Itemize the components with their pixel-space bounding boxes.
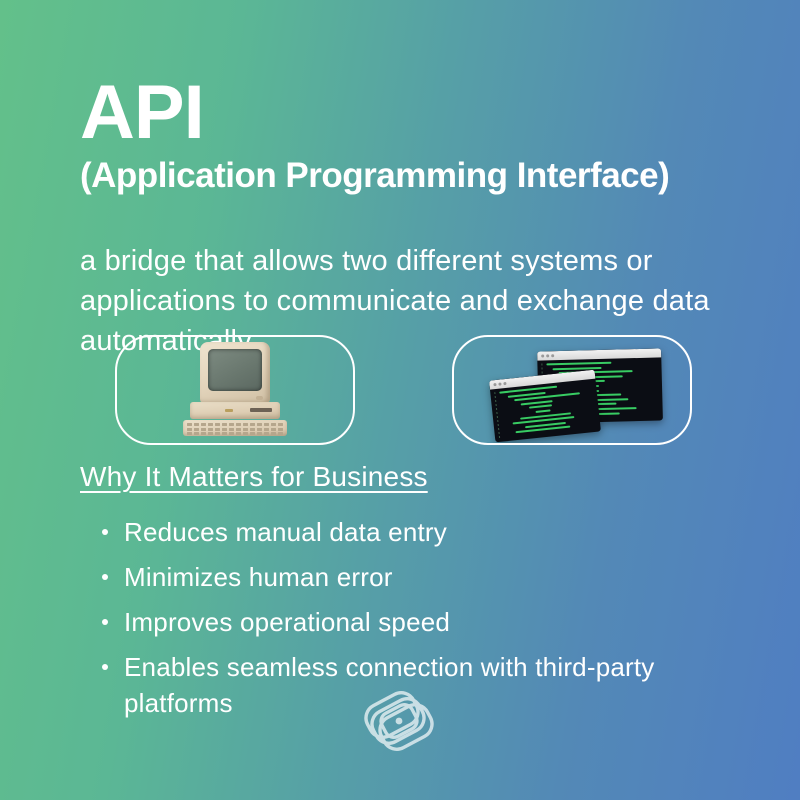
floppy-drive-slot [250,408,272,412]
terminal-window-front [489,370,601,443]
terminal-windows-icon [454,337,690,443]
headline-block: API (Application Programming Interface) [80,78,740,195]
page-title: API [80,78,740,148]
crt-knob [256,396,263,400]
interlocking-rounded-squares-logo-icon [352,686,448,758]
bullet-icon [102,664,108,670]
terminal-code-area [490,379,601,442]
key-row [187,428,283,431]
bullet-icon [102,619,108,625]
poster-canvas: API (Application Programming Interface) … [0,0,800,800]
key-row [187,423,283,426]
retro-computer-icon [183,342,287,438]
list-item: Improves operational speed [96,605,706,641]
window-minimize-dot-icon [546,354,549,357]
list-item: Reduces manual data entry [96,515,706,551]
line-number-gutter [494,392,500,439]
list-item: Minimizes human error [96,560,706,596]
window-maximize-dot-icon [551,354,554,357]
crt-monitor [200,342,270,404]
crt-screen [208,349,262,391]
illustration-frame-right [452,335,692,445]
window-minimize-dot-icon [498,382,501,385]
list-item-label: Reduces manual data entry [124,517,447,547]
list-item-label: Minimizes human error [124,562,393,592]
keyboard [183,420,287,436]
window-maximize-dot-icon [503,382,506,385]
window-close-dot-icon [541,354,544,357]
bullet-icon [102,574,108,580]
illustration-frame-left [115,335,355,445]
power-led-icon [225,409,233,412]
window-close-dot-icon [493,383,496,386]
computer-case [190,402,280,419]
section-heading: Why It Matters for Business [80,461,428,493]
bullet-icon [102,529,108,535]
page-subtitle: (Application Programming Interface) [80,158,740,195]
key-row [187,432,283,435]
list-item-label: Improves operational speed [124,607,450,637]
